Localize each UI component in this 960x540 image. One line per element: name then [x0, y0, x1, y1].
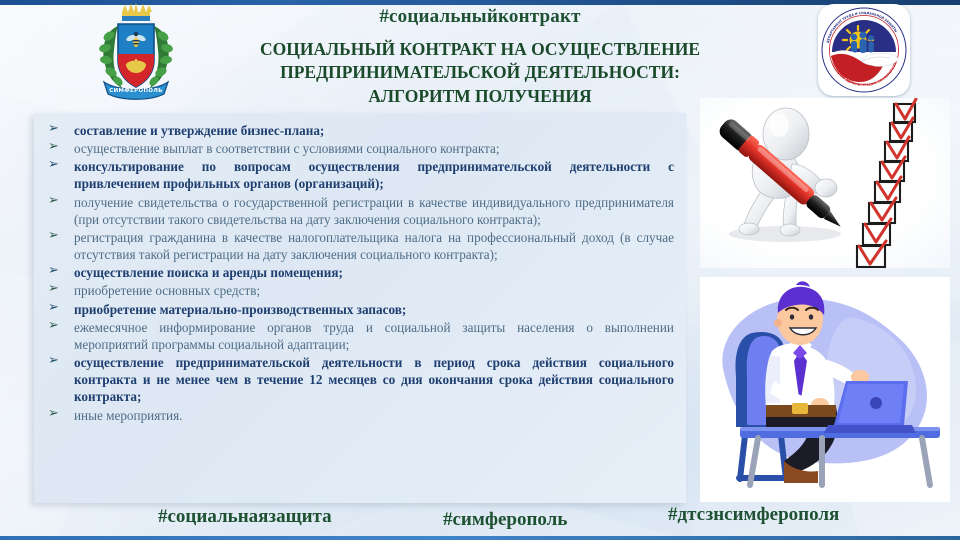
checklist-illustration — [700, 98, 950, 268]
algorithm-step-text: осуществление предпринимательской деятел… — [74, 354, 674, 405]
algorithm-step-item: ➢ежемесячное информирование органов труд… — [44, 319, 674, 353]
algorithm-step-text: консультирование по вопросам осуществлен… — [74, 158, 674, 192]
svg-text:СИМФЕРОПОЛЬ: СИМФЕРОПОЛЬ — [109, 88, 162, 94]
algorithm-step-item: ➢регистрация гражданина в качестве налог… — [44, 229, 674, 263]
algorithm-step-item: ➢осуществление предпринимательской деяте… — [44, 354, 674, 405]
algorithm-step-text: иные мероприятия. — [74, 407, 674, 424]
content-panel: ➢составление и утверждение бизнес-плана;… — [34, 113, 686, 503]
hashtag-dtszn-simferopol: #дтсзнсимферополя — [668, 504, 839, 526]
algorithm-step-item: ➢приобретение основных средств; — [44, 282, 674, 299]
arrow-bullet-icon: ➢ — [48, 193, 59, 210]
algorithm-step-text: ежемесячное информирование органов труда… — [74, 319, 674, 353]
arrow-bullet-icon: ➢ — [48, 318, 59, 335]
bottom-rule — [0, 536, 960, 540]
algorithm-step-item: ➢консультирование по вопросам осуществле… — [44, 158, 674, 192]
algorithm-step-text: составление и утверждение бизнес-плана; — [74, 122, 674, 139]
arrow-bullet-icon: ➢ — [48, 353, 59, 370]
title-line-1: СОЦИАЛЬНЫЙ КОНТРАКТ НА ОСУЩЕСТВЛЕНИЕ — [200, 38, 760, 61]
page-title: СОЦИАЛЬНЫЙ КОНТРАКТ НА ОСУЩЕСТВЛЕНИЕ ПРЕ… — [200, 38, 760, 108]
algorithm-step-text: регистрация гражданина в качестве налого… — [74, 229, 674, 263]
hashtag-social-protection: #социальнаязащита — [158, 506, 332, 528]
algorithm-step-text: получение свидетельства о государственно… — [74, 194, 674, 228]
algorithm-step-item: ➢осуществление выплат в соответствии с у… — [44, 140, 674, 157]
hashtag-simferopol: #симферополь — [443, 509, 567, 531]
algorithm-step-text: осуществление выплат в соответствии с ус… — [74, 140, 674, 157]
algorithm-step-text: осуществление поиска и аренды помещения; — [74, 264, 674, 281]
arrow-bullet-icon: ➢ — [48, 263, 59, 280]
title-line-3: АЛГОРИТМ ПОЛУЧЕНИЯ — [200, 85, 760, 108]
simferopol-coat-of-arms: СИМФЕРОПОЛЬ — [88, 2, 184, 100]
arrow-bullet-icon: ➢ — [48, 300, 59, 317]
algorithm-step-text: приобретение основных средств; — [74, 282, 674, 299]
title-line-2: ПРЕДПРИНИМАТЕЛЬСКОЙ ДЕЯТЕЛЬНОСТИ: — [200, 61, 760, 84]
algorithm-step-item: ➢приобретение материально-производственн… — [44, 301, 674, 318]
arrow-bullet-icon: ➢ — [48, 157, 59, 174]
department-emblem: ДЕПАРТАМЕНТ ТРУДА И СОЦИАЛЬНОЙ ЗАЩИТЫ НА… — [818, 4, 910, 96]
algorithm-step-item: ➢осуществление поиска и аренды помещения… — [44, 264, 674, 281]
poster-root: СИМФЕРОПОЛЬ ДЕПАРТАМЕНТ ТРУДА И СОЦИАЛЬН… — [0, 0, 960, 540]
algorithm-step-item: ➢получение свидетельства о государственн… — [44, 194, 674, 228]
algorithm-step-text: приобретение материально-производственны… — [74, 301, 674, 318]
arrow-bullet-icon: ➢ — [48, 228, 59, 245]
algorithm-step-item: ➢иные мероприятия. — [44, 407, 674, 424]
desk-illustration — [700, 277, 950, 502]
algorithm-step-item: ➢составление и утверждение бизнес-плана; — [44, 122, 674, 139]
arrow-bullet-icon: ➢ — [48, 139, 59, 156]
hashtag-top: #социальныйконтракт — [230, 6, 730, 28]
arrow-bullet-icon: ➢ — [48, 121, 59, 138]
algorithm-steps-list: ➢составление и утверждение бизнес-плана;… — [44, 122, 674, 424]
arrow-bullet-icon: ➢ — [48, 406, 59, 423]
arrow-bullet-icon: ➢ — [48, 281, 59, 298]
